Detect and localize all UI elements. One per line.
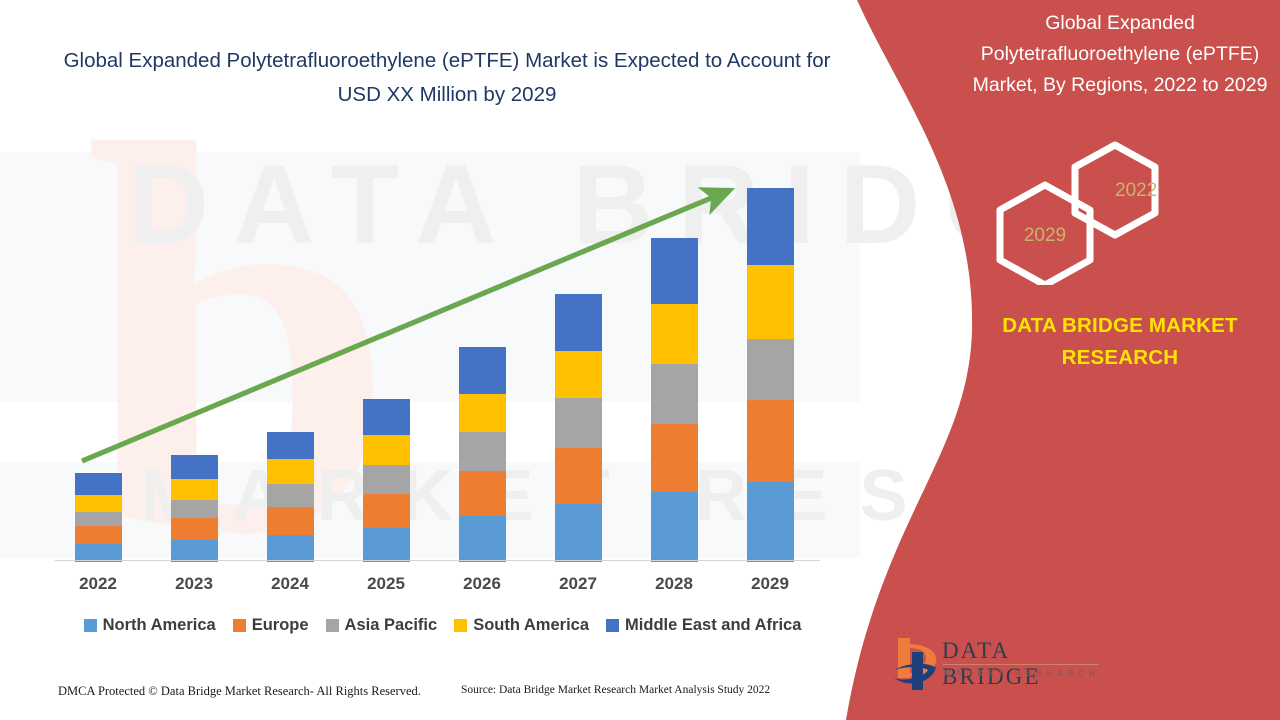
legend-swatch (84, 619, 97, 632)
brand-name: DATA BRIDGE MARKET RESEARCH (960, 310, 1280, 374)
dmca-notice: DMCA Protected © Data Bridge Market Rese… (58, 684, 421, 699)
x-axis-label: 2025 (346, 574, 426, 594)
legend-swatch (454, 619, 467, 632)
panel-content: Global Expanded Polytetrafluoroethylene … (960, 0, 1280, 720)
logo-mark-icon (890, 632, 942, 694)
x-axis-label: 2027 (538, 574, 618, 594)
source-note: Source: Data Bridge Market Research Mark… (461, 684, 770, 696)
legend-label: Middle East and Africa (625, 616, 801, 635)
x-axis-label: 2024 (250, 574, 330, 594)
x-axis-label: 2029 (730, 574, 810, 594)
hexagon-2029-label: 2029 (970, 225, 1120, 247)
legend-label: Europe (252, 616, 309, 635)
x-axis-label: 2028 (634, 574, 714, 594)
legend-item[interactable]: Asia Pacific (326, 616, 438, 635)
hexagon-year-group: 2022 2029 (970, 140, 1270, 285)
chart-legend: North AmericaEuropeAsia PacificSouth Ame… (55, 616, 830, 635)
panel-title: Global Expanded Polytetrafluoroethylene … (958, 8, 1280, 101)
logo-divider (943, 664, 1099, 665)
logo-subtitle: MARKET RESEARCH (944, 668, 1099, 678)
legend-item[interactable]: South America (454, 616, 589, 635)
legend-swatch (233, 619, 246, 632)
legend-label: North America (103, 616, 216, 635)
legend-item[interactable]: Middle East and Africa (606, 616, 801, 635)
legend-swatch (606, 619, 619, 632)
legend-label: South America (473, 616, 589, 635)
infographic-canvas: b DATA BRIDGE MARKET RESEARCH Global Exp… (0, 0, 1280, 720)
legend-label: Asia Pacific (345, 616, 438, 635)
x-axis-label: 2022 (58, 574, 138, 594)
x-axis-label: 2026 (442, 574, 522, 594)
legend-item[interactable]: North America (84, 616, 216, 635)
hexagons-icon (970, 140, 1270, 285)
legend-swatch (326, 619, 339, 632)
x-axis-label: 2023 (154, 574, 234, 594)
hexagon-2022-label: 2022 (1005, 180, 1225, 202)
data-bridge-logo: DATA BRIDGE MARKET RESEARCH (890, 632, 1105, 698)
legend-item[interactable]: Europe (233, 616, 309, 635)
